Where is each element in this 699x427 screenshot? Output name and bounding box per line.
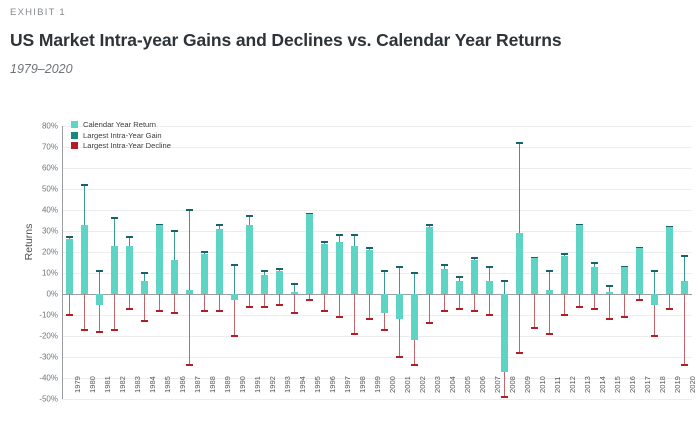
x-tick-label: 1994 [298,376,307,393]
x-tick-label: 1984 [148,376,157,393]
legend-label: Calendar Year Return [83,120,156,129]
x-tick-label: 2018 [658,376,667,393]
x-tick-label: 1999 [373,376,382,393]
x-tick-label: 1996 [328,376,337,393]
x-tick-label: 1989 [223,376,232,393]
x-tick-label: 1986 [178,376,187,393]
x-tick-label: 1988 [208,376,217,393]
x-tick-label: 1990 [238,376,247,393]
legend-item: Calendar Year Return [71,120,171,129]
x-tick-label: 1980 [88,376,97,393]
x-tick-label: 1995 [313,376,322,393]
x-tick-label: 1991 [253,376,262,393]
x-tick-label: 1992 [268,376,277,393]
x-tick-label: 2013 [583,376,592,393]
x-tick-label: 2001 [403,376,412,393]
x-tick-label: 2002 [418,376,427,393]
x-tick-label: 2020 [688,376,697,393]
x-axis-tick-labels: 1979198019811982198319841985198619871988… [0,0,699,427]
x-tick-label: 2006 [478,376,487,393]
x-tick-label: 2003 [433,376,442,393]
x-tick-label: 1987 [193,376,202,393]
x-tick-label: 2009 [523,376,532,393]
legend-swatch-intra-year-gain [71,132,78,139]
x-tick-label: 1979 [73,376,82,393]
legend-swatch-calendar-return [71,121,78,128]
x-tick-label: 2019 [673,376,682,393]
x-tick-label: 2015 [613,376,622,393]
x-tick-label: 2011 [553,377,562,393]
legend-item: Largest Intra-Year Gain [71,131,171,140]
x-tick-label: 2012 [568,376,577,393]
x-tick-label: 2008 [508,376,517,393]
legend-swatch-intra-year-decline [71,142,78,149]
x-tick-label: 2016 [628,376,637,393]
legend-label: Largest Intra-Year Gain [83,131,162,140]
x-tick-label: 1998 [358,376,367,393]
chart-plot-area: Returns 80%70%60%50%40%30%20%10%0%-10%-2… [0,0,699,427]
x-tick-label: 2007 [493,376,502,393]
x-tick-label: 2010 [538,376,547,393]
x-tick-label: 1997 [343,376,352,393]
x-tick-label: 1981 [103,376,112,393]
x-tick-label: 1982 [118,376,127,393]
x-tick-label: 1985 [163,376,172,393]
x-tick-label: 2004 [448,376,457,393]
legend-item: Largest Intra-Year Decline [71,141,171,150]
x-tick-label: 2014 [598,376,607,393]
x-tick-label: 2017 [643,376,652,393]
x-tick-label: 1983 [133,376,142,393]
legend-label: Largest Intra-Year Decline [83,141,171,150]
x-tick-label: 2005 [463,376,472,393]
x-tick-label: 1993 [283,376,292,393]
x-tick-label: 2000 [388,376,397,393]
chart-legend: Calendar Year Return Largest Intra-Year … [71,120,171,150]
